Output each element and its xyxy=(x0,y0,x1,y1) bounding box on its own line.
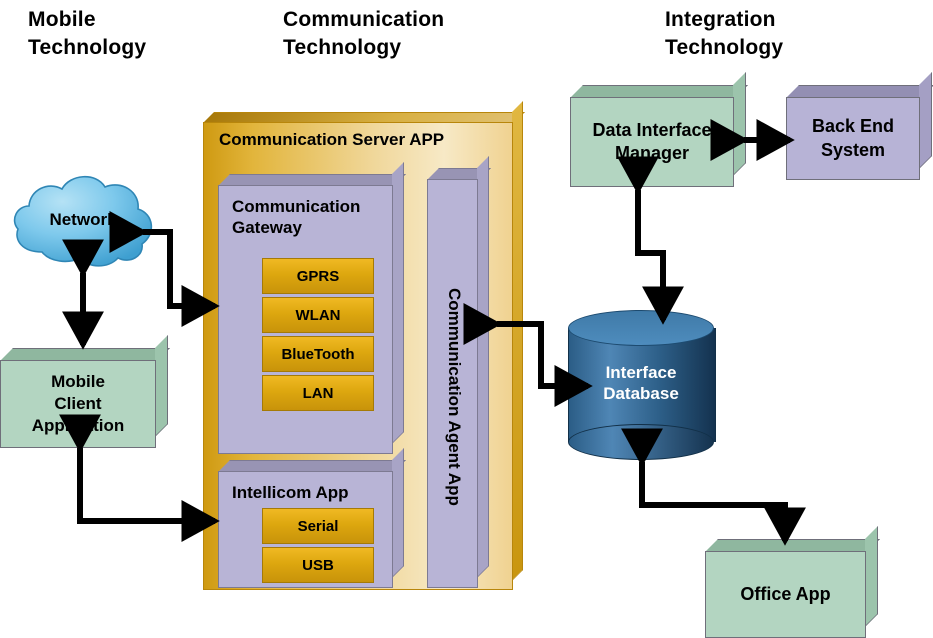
protocol-chip-lan[interactable]: LAN xyxy=(262,375,374,411)
communication-agent-app-panel[interactable]: Communication Agent App xyxy=(427,168,489,588)
box-side-face xyxy=(733,72,746,176)
arrow-database-office-app xyxy=(642,462,785,541)
box-side-face xyxy=(865,526,878,627)
communication-agent-app-label: Communication Agent App xyxy=(444,288,464,506)
column-title-mobile-technology: Mobile Technology xyxy=(28,6,146,61)
intellicom-app-panel[interactable]: Intellicom App Serial USB xyxy=(218,460,404,588)
office-app-box[interactable]: Office App xyxy=(705,539,878,638)
interface-database-label: Interface Database xyxy=(568,362,714,405)
office-app-label: Office App xyxy=(705,551,866,638)
back-end-system-box[interactable]: Back End System xyxy=(786,85,932,180)
panel-side-face xyxy=(477,156,489,578)
network-label: Network xyxy=(8,210,158,230)
communication-gateway-panel[interactable]: Communication Gateway GPRS WLAN BlueToot… xyxy=(218,174,404,454)
arrow-mobile-client-intellicom xyxy=(80,448,215,521)
communication-gateway-label: Communication Gateway xyxy=(232,196,360,239)
protocol-chip-bluetooth[interactable]: BlueTooth xyxy=(262,336,374,372)
network-cloud[interactable]: Network xyxy=(8,168,158,273)
protocol-chip-usb[interactable]: USB xyxy=(262,547,374,583)
arrow-database-data-interface-manager xyxy=(638,190,663,320)
box-side-face xyxy=(919,72,932,169)
intellicom-app-label: Intellicom App xyxy=(232,482,349,503)
container-side-face xyxy=(512,101,523,581)
communication-server-app-title: Communication Server APP xyxy=(219,130,444,150)
protocol-chip-gprs[interactable]: GPRS xyxy=(262,258,374,294)
box-side-face xyxy=(155,335,168,437)
column-title-integration-technology: Integration Technology xyxy=(665,6,783,61)
communication-server-app-container[interactable]: Communication Server APP Communication G… xyxy=(203,112,523,590)
architecture-diagram: Mobile Technology Communication Technolo… xyxy=(0,0,933,638)
panel-side-face xyxy=(392,162,404,444)
mobile-client-application-box[interactable]: Mobile Client Application xyxy=(0,348,168,448)
column-title-communication-technology: Communication Technology xyxy=(283,6,444,61)
panel-side-face xyxy=(392,448,404,578)
data-interface-manager-box[interactable]: Data Interface Manager xyxy=(570,85,746,187)
protocol-chip-wlan[interactable]: WLAN xyxy=(262,297,374,333)
interface-database-cylinder[interactable]: Interface Database xyxy=(568,310,714,460)
cylinder-bottom-ellipse xyxy=(568,424,714,460)
back-end-system-label: Back End System xyxy=(786,97,920,180)
cylinder-top-ellipse xyxy=(568,310,714,346)
mobile-client-application-label: Mobile Client Application xyxy=(0,360,156,448)
data-interface-manager-label: Data Interface Manager xyxy=(570,97,734,187)
protocol-chip-serial[interactable]: Serial xyxy=(262,508,374,544)
